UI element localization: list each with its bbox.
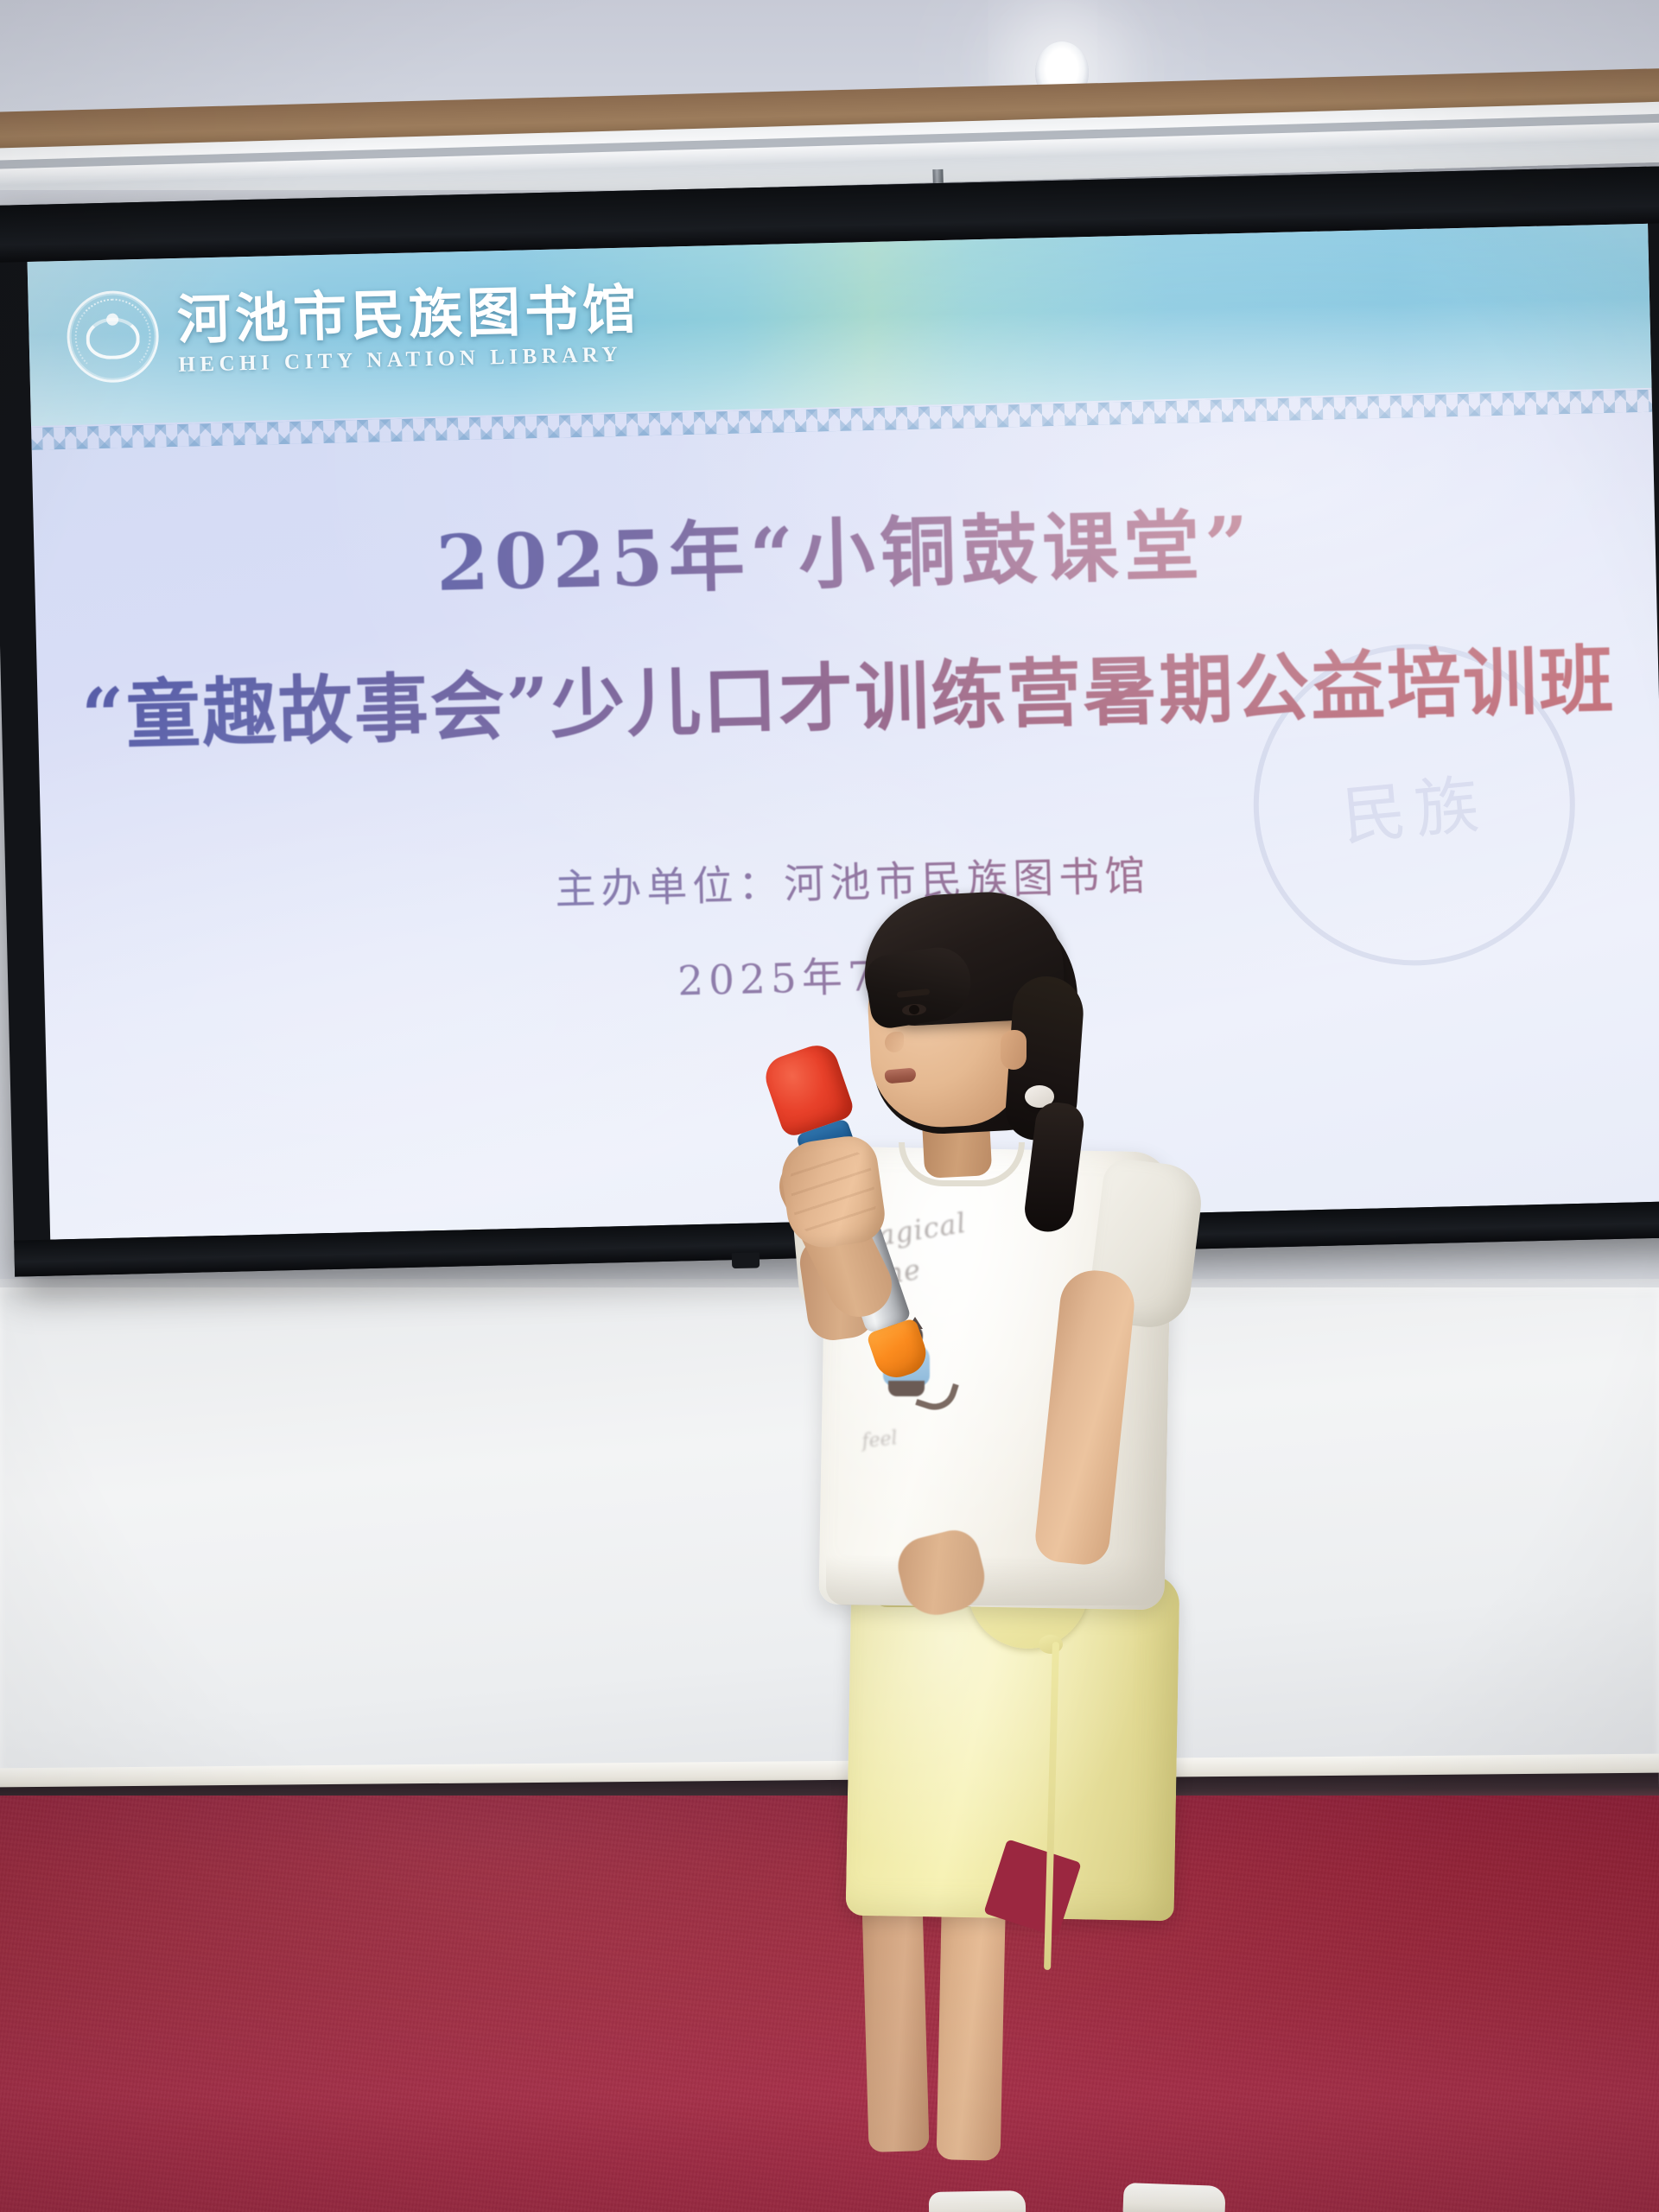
ear: [1001, 1030, 1027, 1070]
photo-scene: 河池市民族图书馆 HECHI CITY NATION LIBRARY 民族 20…: [0, 0, 1659, 2212]
tshirt-hem: [826, 1555, 1165, 1605]
sandal-left: [1122, 2183, 1225, 2212]
girl-speaker: Magical time feel: [0, 0, 1659, 2212]
eye-pupil: [909, 1005, 919, 1014]
nose: [885, 1032, 904, 1052]
sandal-right: [929, 2190, 1027, 2212]
